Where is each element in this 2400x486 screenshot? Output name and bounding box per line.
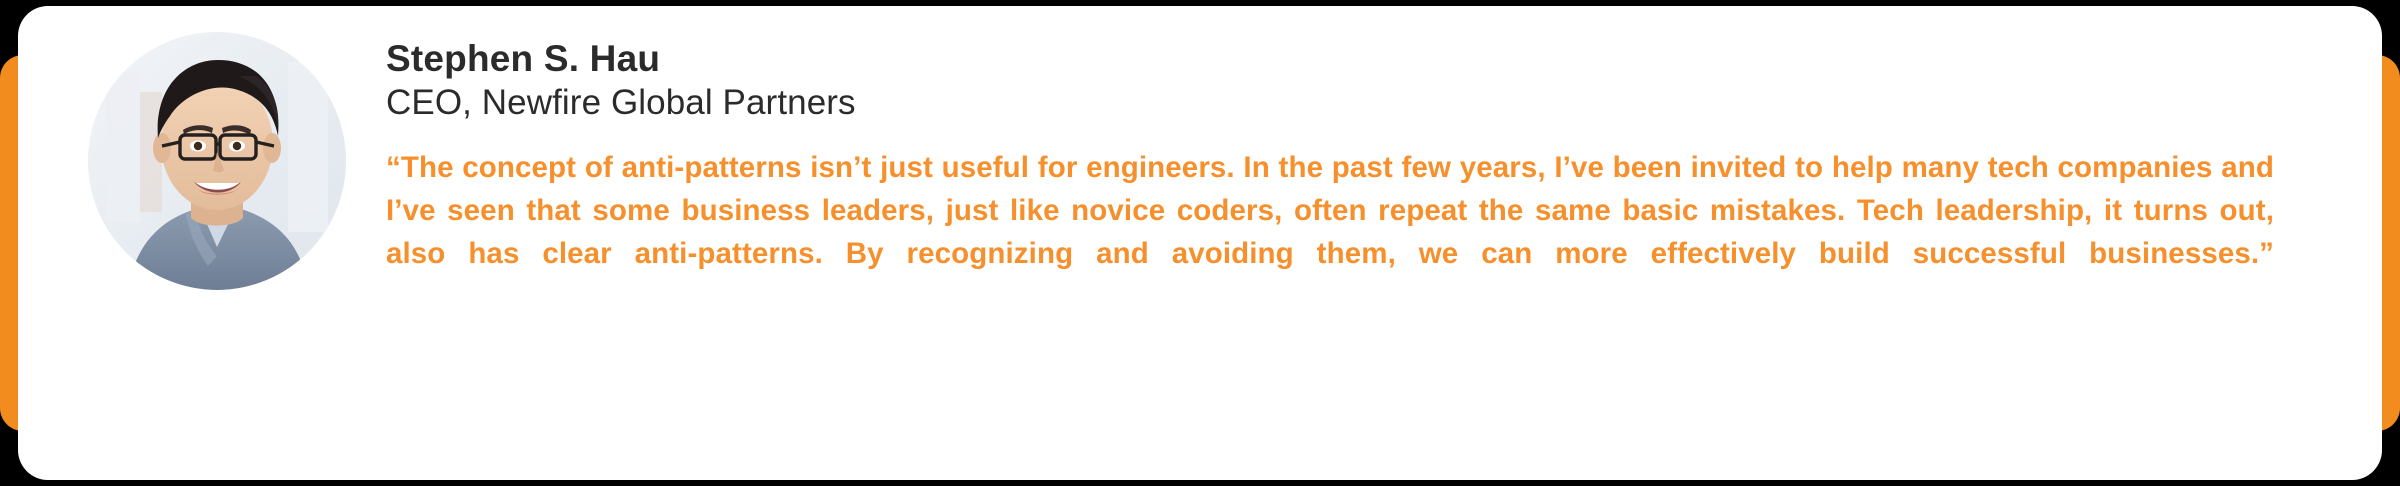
person-role: CEO, Newfire Global Partners [386,83,2276,123]
person-name: Stephen S. Hau [386,38,2276,79]
testimonial-content: Stephen S. Hau CEO, Newfire Global Partn… [386,38,2276,319]
portrait-photo-icon [88,32,346,290]
quote-text: “The concept of anti-patterns isn’t just… [386,146,2274,319]
avatar-image [88,32,346,290]
testimonial-slide: Stephen S. Hau CEO, Newfire Global Partn… [0,0,2400,486]
avatar [88,32,346,290]
